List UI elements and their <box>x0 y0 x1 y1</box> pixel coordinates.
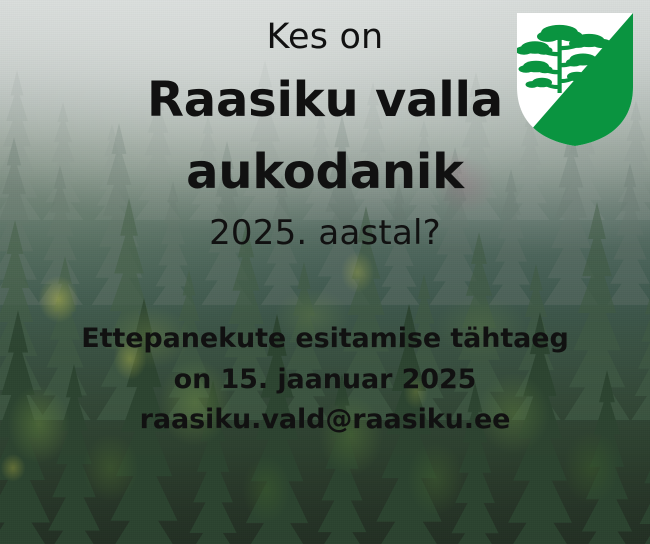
headline-line-1: Kes on <box>0 20 650 55</box>
headline-line-2: Raasiku valla <box>0 76 650 124</box>
headline-line-3: aukodanik <box>0 148 650 196</box>
contact-email[interactable]: raasiku.vald@raasiku.ee <box>0 406 650 433</box>
deadline-date: on 15. jaanuar 2025 <box>0 366 650 393</box>
poster-canvas: Kes on Raasiku valla aukodanik 2025. aas… <box>0 0 650 544</box>
headline-line-4-year: 2025. aastal? <box>0 216 650 250</box>
deadline-label: Ettepanekute esitamise tähtaeg <box>0 325 650 352</box>
